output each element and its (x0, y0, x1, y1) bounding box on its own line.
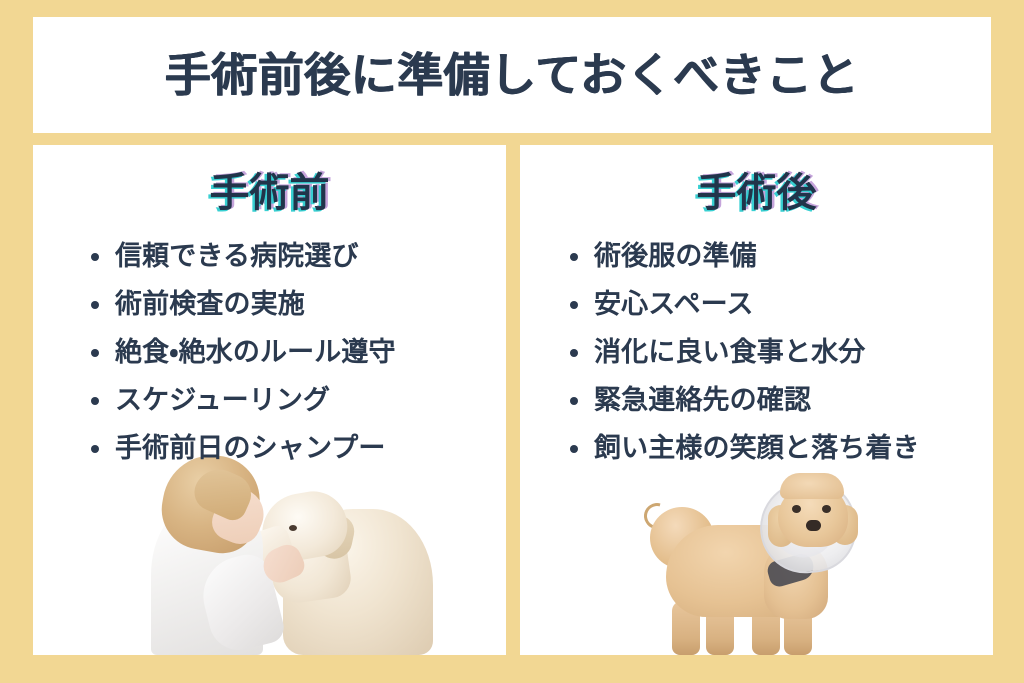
poodle-eye-shape (792, 505, 801, 513)
bullet-list-post-surgery: 術後服の準備 安心スペース 消化に良い食事と水分 緊急連絡先の確認 飼い主様の笑… (520, 213, 993, 462)
poodle-topknot-shape (780, 473, 844, 499)
list-item: 術前検査の実施 (91, 291, 506, 318)
list-item: 術後服の準備 (570, 243, 993, 270)
title-card: 手術前後に準備しておくべきこと (33, 17, 991, 133)
panel-heading-post-surgery: 手術後 (520, 145, 993, 213)
list-item: 安心スペース (570, 291, 993, 318)
list-item: 緊急連絡先の確認 (570, 387, 993, 414)
list-item: 手術前日のシャンプー (91, 435, 506, 462)
infographic-poster: 手術前後に準備しておくべきこと 手術前 信頼できる病院選び 術前検査の実施 絶食… (0, 0, 1024, 683)
panel-post-surgery: 手術後 術後服の準備 安心スペース 消化に良い食事と水分 緊急連絡先の確認 飼い… (520, 145, 993, 655)
panel-pre-surgery: 手術前 信頼できる病院選び 術前検査の実施 絶食・絶水のルール遵守 スケジューリ… (33, 145, 506, 655)
bullet-list-pre-surgery: 信頼できる病院選び 術前検査の実施 絶食・絶水のルール遵守 スケジューリング 手… (33, 213, 506, 462)
list-item: 信頼できる病院選び (91, 243, 506, 270)
woman-kissing-golden-retriever-photo (33, 445, 506, 655)
toy-poodle-with-cone-collar-photo (520, 445, 993, 655)
list-item: 絶食・絶水のルール遵守 (91, 339, 506, 366)
list-item: 消化に良い食事と水分 (570, 339, 993, 366)
page-title: 手術前後に準備しておくべきこと (165, 52, 859, 98)
list-item: スケジューリング (91, 387, 506, 414)
poodle-eye-shape (822, 505, 831, 513)
golden-retriever-eye-shape (289, 525, 297, 531)
panel-heading-pre-surgery: 手術前 (33, 145, 506, 213)
photo-scene (143, 455, 443, 655)
list-item: 飼い主様の笑顔と落ち着き (570, 435, 993, 462)
photo-scene (640, 455, 930, 655)
poodle-nose-shape (806, 520, 821, 531)
